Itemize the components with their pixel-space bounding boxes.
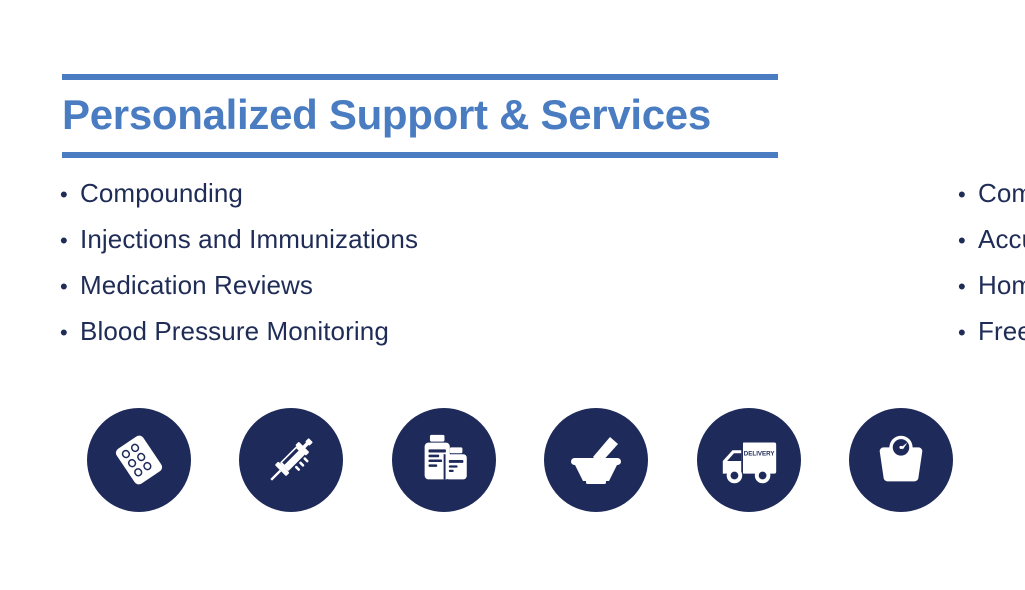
list-item: • Free Prescription Delivery: [958, 316, 1025, 362]
service-label: Medication Reviews: [80, 270, 313, 301]
bullet-icon: •: [60, 276, 80, 298]
bullet-icon: •: [958, 322, 978, 344]
list-item: • Accu-Pak Bubble Packaging: [958, 224, 1025, 270]
list-item: • Home Health Care: [958, 270, 1025, 316]
bullet-icon: •: [60, 184, 80, 206]
icon-badge-medicine-bottles: [392, 408, 496, 512]
mortar-and-pestle-icon: [564, 428, 628, 492]
syringe-icon: [259, 428, 323, 492]
heading-block: Personalized Support & Services: [62, 74, 778, 158]
services-column-left: • Compounding • Injections and Immunizat…: [0, 178, 480, 362]
list-item: • Medication Reviews: [60, 270, 480, 316]
bullet-icon: •: [958, 276, 978, 298]
weight-scale-icon: [870, 429, 932, 491]
delivery-truck-icon: DELIVERY: [716, 427, 782, 493]
service-label: Compounding: [80, 178, 243, 209]
service-label: Compression Therapy: [978, 178, 1025, 209]
list-item: • Compression Therapy: [958, 178, 1025, 224]
icon-row: DELIVERY: [87, 408, 953, 512]
truck-delivery-label: DELIVERY: [743, 451, 775, 458]
slide-root: Personalized Support & Services • Compou…: [0, 0, 1025, 590]
list-item: • Compounding: [60, 178, 480, 224]
service-label: Injections and Immunizations: [80, 224, 418, 255]
page-title: Personalized Support & Services: [62, 80, 778, 152]
title-rule-bottom: [62, 152, 778, 158]
icon-badge-syringe: [239, 408, 343, 512]
service-label: Blood Pressure Monitoring: [80, 316, 389, 347]
services-column-right: • Compression Therapy • Accu-Pak Bubble …: [480, 178, 1025, 362]
bullet-icon: •: [60, 230, 80, 252]
icon-badge-blister-pack: [87, 408, 191, 512]
bullet-icon: •: [958, 184, 978, 206]
services-section: • Compounding • Injections and Immunizat…: [0, 178, 1025, 362]
icon-badge-delivery-truck: DELIVERY: [697, 408, 801, 512]
service-label: Accu-Pak Bubble Packaging: [978, 224, 1025, 255]
service-label: Home Health Care: [978, 270, 1025, 301]
blister-pack-icon: [107, 428, 171, 492]
icon-badge-mortar-pestle: [544, 408, 648, 512]
service-label: Free Prescription Delivery: [978, 316, 1025, 347]
bullet-icon: •: [958, 230, 978, 252]
icon-badge-weight-scale: [849, 408, 953, 512]
medicine-bottles-icon: [413, 429, 475, 491]
list-item: • Injections and Immunizations: [60, 224, 480, 270]
list-item: • Blood Pressure Monitoring: [60, 316, 480, 362]
bullet-icon: •: [60, 322, 80, 344]
